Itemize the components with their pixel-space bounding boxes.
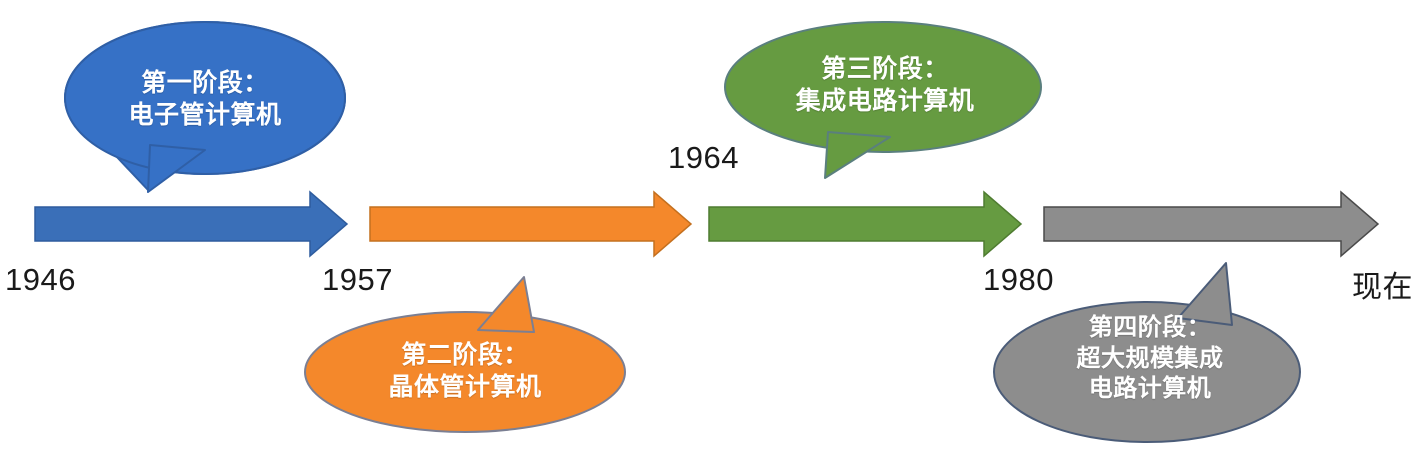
arrow-stage-2 [370, 192, 691, 256]
callout-stage-4-body [994, 302, 1300, 442]
callout-stage-2-tail [478, 277, 534, 332]
diagram-shapes [0, 0, 1416, 458]
callout-stage-2-body [305, 312, 625, 432]
timeline-marker-1946: 1946 [5, 262, 76, 298]
timeline-marker-1980: 1980 [983, 262, 1054, 298]
timeline-marker-1964: 1964 [668, 140, 739, 176]
callout-stage-3-body [725, 22, 1041, 152]
callout-stage-3[interactable] [725, 22, 1041, 178]
callout-stage-2[interactable] [305, 277, 625, 432]
timeline-marker-1957: 1957 [322, 262, 393, 298]
arrow-stage-1 [35, 192, 347, 256]
callout-stage-1[interactable] [65, 22, 345, 192]
timeline-arrow-group [35, 192, 1378, 256]
callout-stage-3-tail [825, 132, 890, 178]
callout-stage-4-tail [1178, 263, 1232, 325]
timeline-marker-present: 现在 [1352, 262, 1413, 306]
arrow-stage-3 [709, 192, 1021, 256]
timeline-diagram: 第一阶段： 电子管计算机 第二阶段： 晶体管计算机 第三阶段： 集成电路计算机 … [0, 0, 1416, 458]
arrow-stage-4 [1044, 192, 1378, 256]
